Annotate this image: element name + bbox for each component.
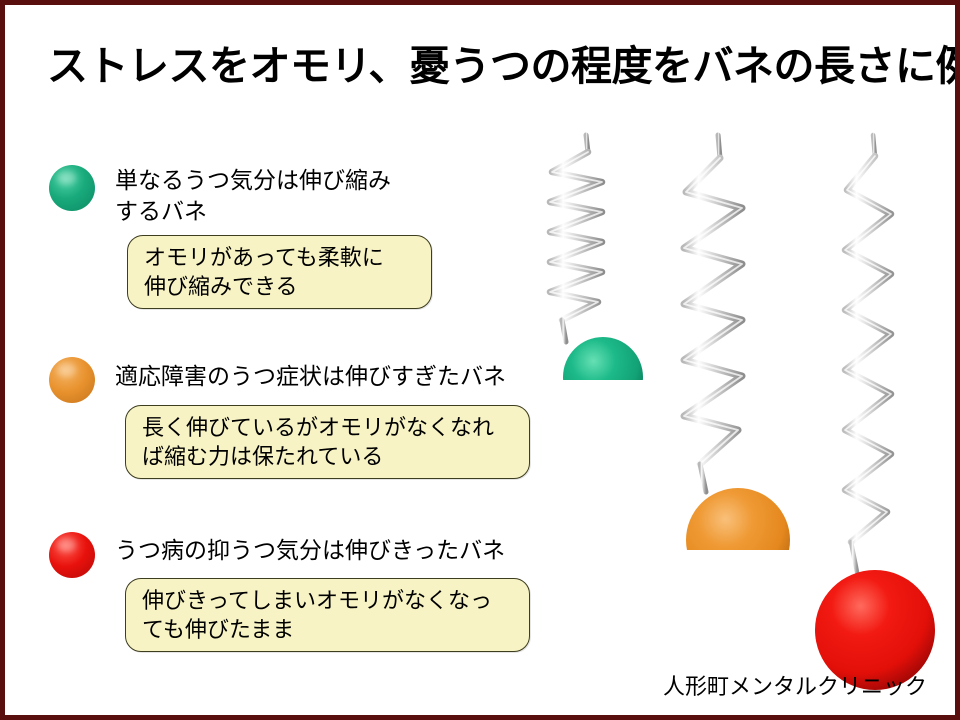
clinic-name-footer: 人形町メンタルクリニック (663, 669, 927, 701)
bullet-heading-adjustment-disorder: 適応障害のうつ症状は伸びすぎたバネ (115, 361, 585, 392)
callout-adjustment-disorder: 長く伸びているがオモリがなくなれ ば縮む力は保たれている (125, 405, 530, 479)
bullet-dot-red (49, 532, 95, 578)
spring-assembly-stretched (660, 130, 810, 550)
spring-assembly-compressed (540, 130, 680, 370)
bullet-heading-depression: うつ病の抑うつ気分は伸びきったバネ (115, 535, 585, 566)
page-title: ストレスをオモリ、憂うつの程度をバネの長さに例える (47, 43, 937, 90)
bullet-heading-mood: 単なるうつ気分は伸び縮み するバネ (115, 165, 445, 227)
spring-compressed-icon (540, 130, 680, 380)
callout-depression: 伸びきってしまいオモリがなくなっ ても伸びたまま (125, 578, 530, 652)
spring-assembly-overstretched (795, 130, 960, 690)
spring-overstretched-icon (795, 130, 960, 690)
spring-stretched-icon (660, 130, 810, 550)
slide-canvas: ストレスをオモリ、憂うつの程度をバネの長さに例える 単なるうつ気分は伸び縮み す… (0, 0, 960, 720)
bullet-dot-green (49, 165, 95, 211)
bullet-dot-orange (49, 357, 95, 403)
callout-mood: オモリがあっても柔軟に 伸び縮みできる (127, 235, 432, 309)
